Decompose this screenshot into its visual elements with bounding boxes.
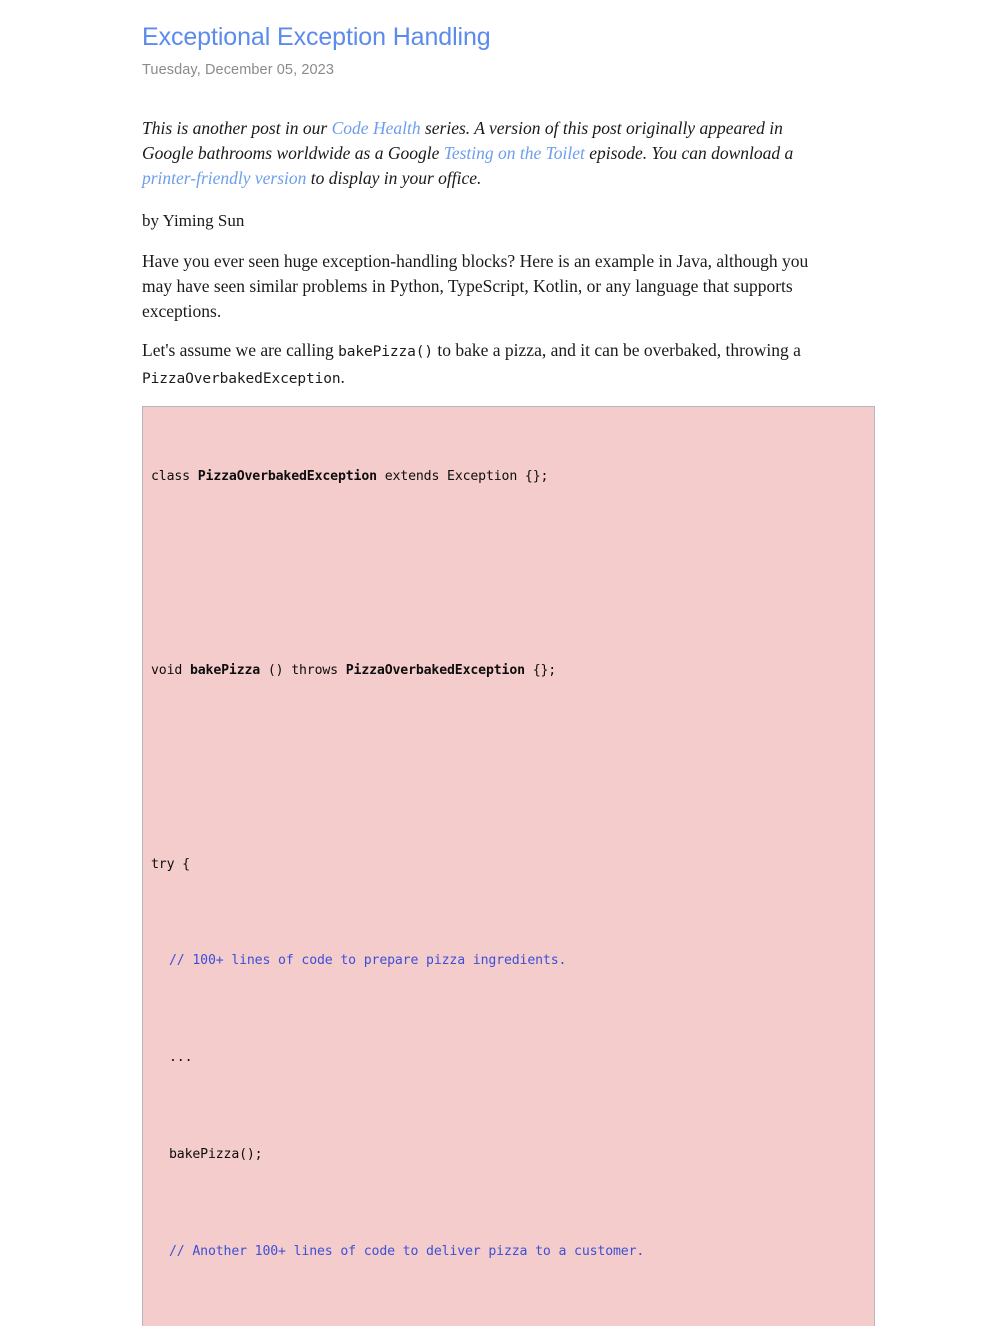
- code-text-throws: () throws: [260, 663, 346, 678]
- code-line-2-blank: [151, 562, 866, 586]
- para2-text-3: .: [340, 367, 344, 387]
- para2-text-2: to bake a pizza, and it can be overbaked…: [433, 340, 801, 360]
- post-body: This is another post in our Code Health …: [142, 116, 842, 1326]
- testing-on-the-toilet-link[interactable]: Testing on the Toilet: [444, 143, 585, 163]
- author-byline: by Yiming Sun: [142, 209, 842, 233]
- code-line-4-blank: [151, 756, 866, 780]
- code-call-bakepizza: bakePizza();: [151, 1143, 866, 1167]
- intro-text-3: episode. You can download a: [585, 143, 793, 163]
- body-paragraph-1: Have you ever seen huge exception-handli…: [142, 249, 822, 324]
- printer-friendly-version-link[interactable]: printer-friendly version: [142, 168, 306, 188]
- intro-text-4: to display in your office.: [306, 168, 481, 188]
- code-type-pizzaoverbakedexception: PizzaOverbakedException: [198, 469, 377, 484]
- code-method-bakepizza: bakePizza: [190, 663, 260, 678]
- intro-text-1: This is another post in our: [142, 118, 332, 138]
- code-ellipsis-1: ...: [151, 1046, 866, 1070]
- body-paragraph-2: Let's assume we are calling bakePizza() …: [142, 338, 822, 392]
- code-type-pizzaoverbakedexception-2: PizzaOverbakedException: [346, 663, 525, 678]
- blog-post-page: Exceptional Exception Handling Tuesday, …: [0, 0, 1000, 663]
- inline-code-bakepizza: bakePizza(): [338, 344, 433, 360]
- code-comment-deliver-pizza: // Another 100+ lines of code to deliver…: [151, 1240, 866, 1264]
- post-date: Tuesday, December 05, 2023: [142, 60, 1000, 80]
- code-line-try: try {: [151, 853, 866, 877]
- code-comment-prepare-ingredients: // 100+ lines of code to prepare pizza i…: [151, 949, 866, 973]
- code-text-extends-exception: extends Exception {};: [377, 469, 548, 484]
- code-keyword-void: void: [151, 663, 190, 678]
- inline-code-pizzaoverbakedexception: PizzaOverbakedException: [142, 371, 340, 387]
- page-title: Exceptional Exception Handling: [142, 22, 1000, 52]
- code-health-link[interactable]: Code Health: [332, 118, 421, 138]
- para2-text-1: Let's assume we are calling: [142, 340, 338, 360]
- code-keyword-class: class: [151, 469, 198, 484]
- code-text-braces: {};: [525, 663, 556, 678]
- code-line-1: class PizzaOverbakedException extends Ex…: [151, 465, 866, 489]
- code-block: class PizzaOverbakedException extends Ex…: [142, 406, 875, 1326]
- intro-paragraph: This is another post in our Code Health …: [142, 116, 817, 191]
